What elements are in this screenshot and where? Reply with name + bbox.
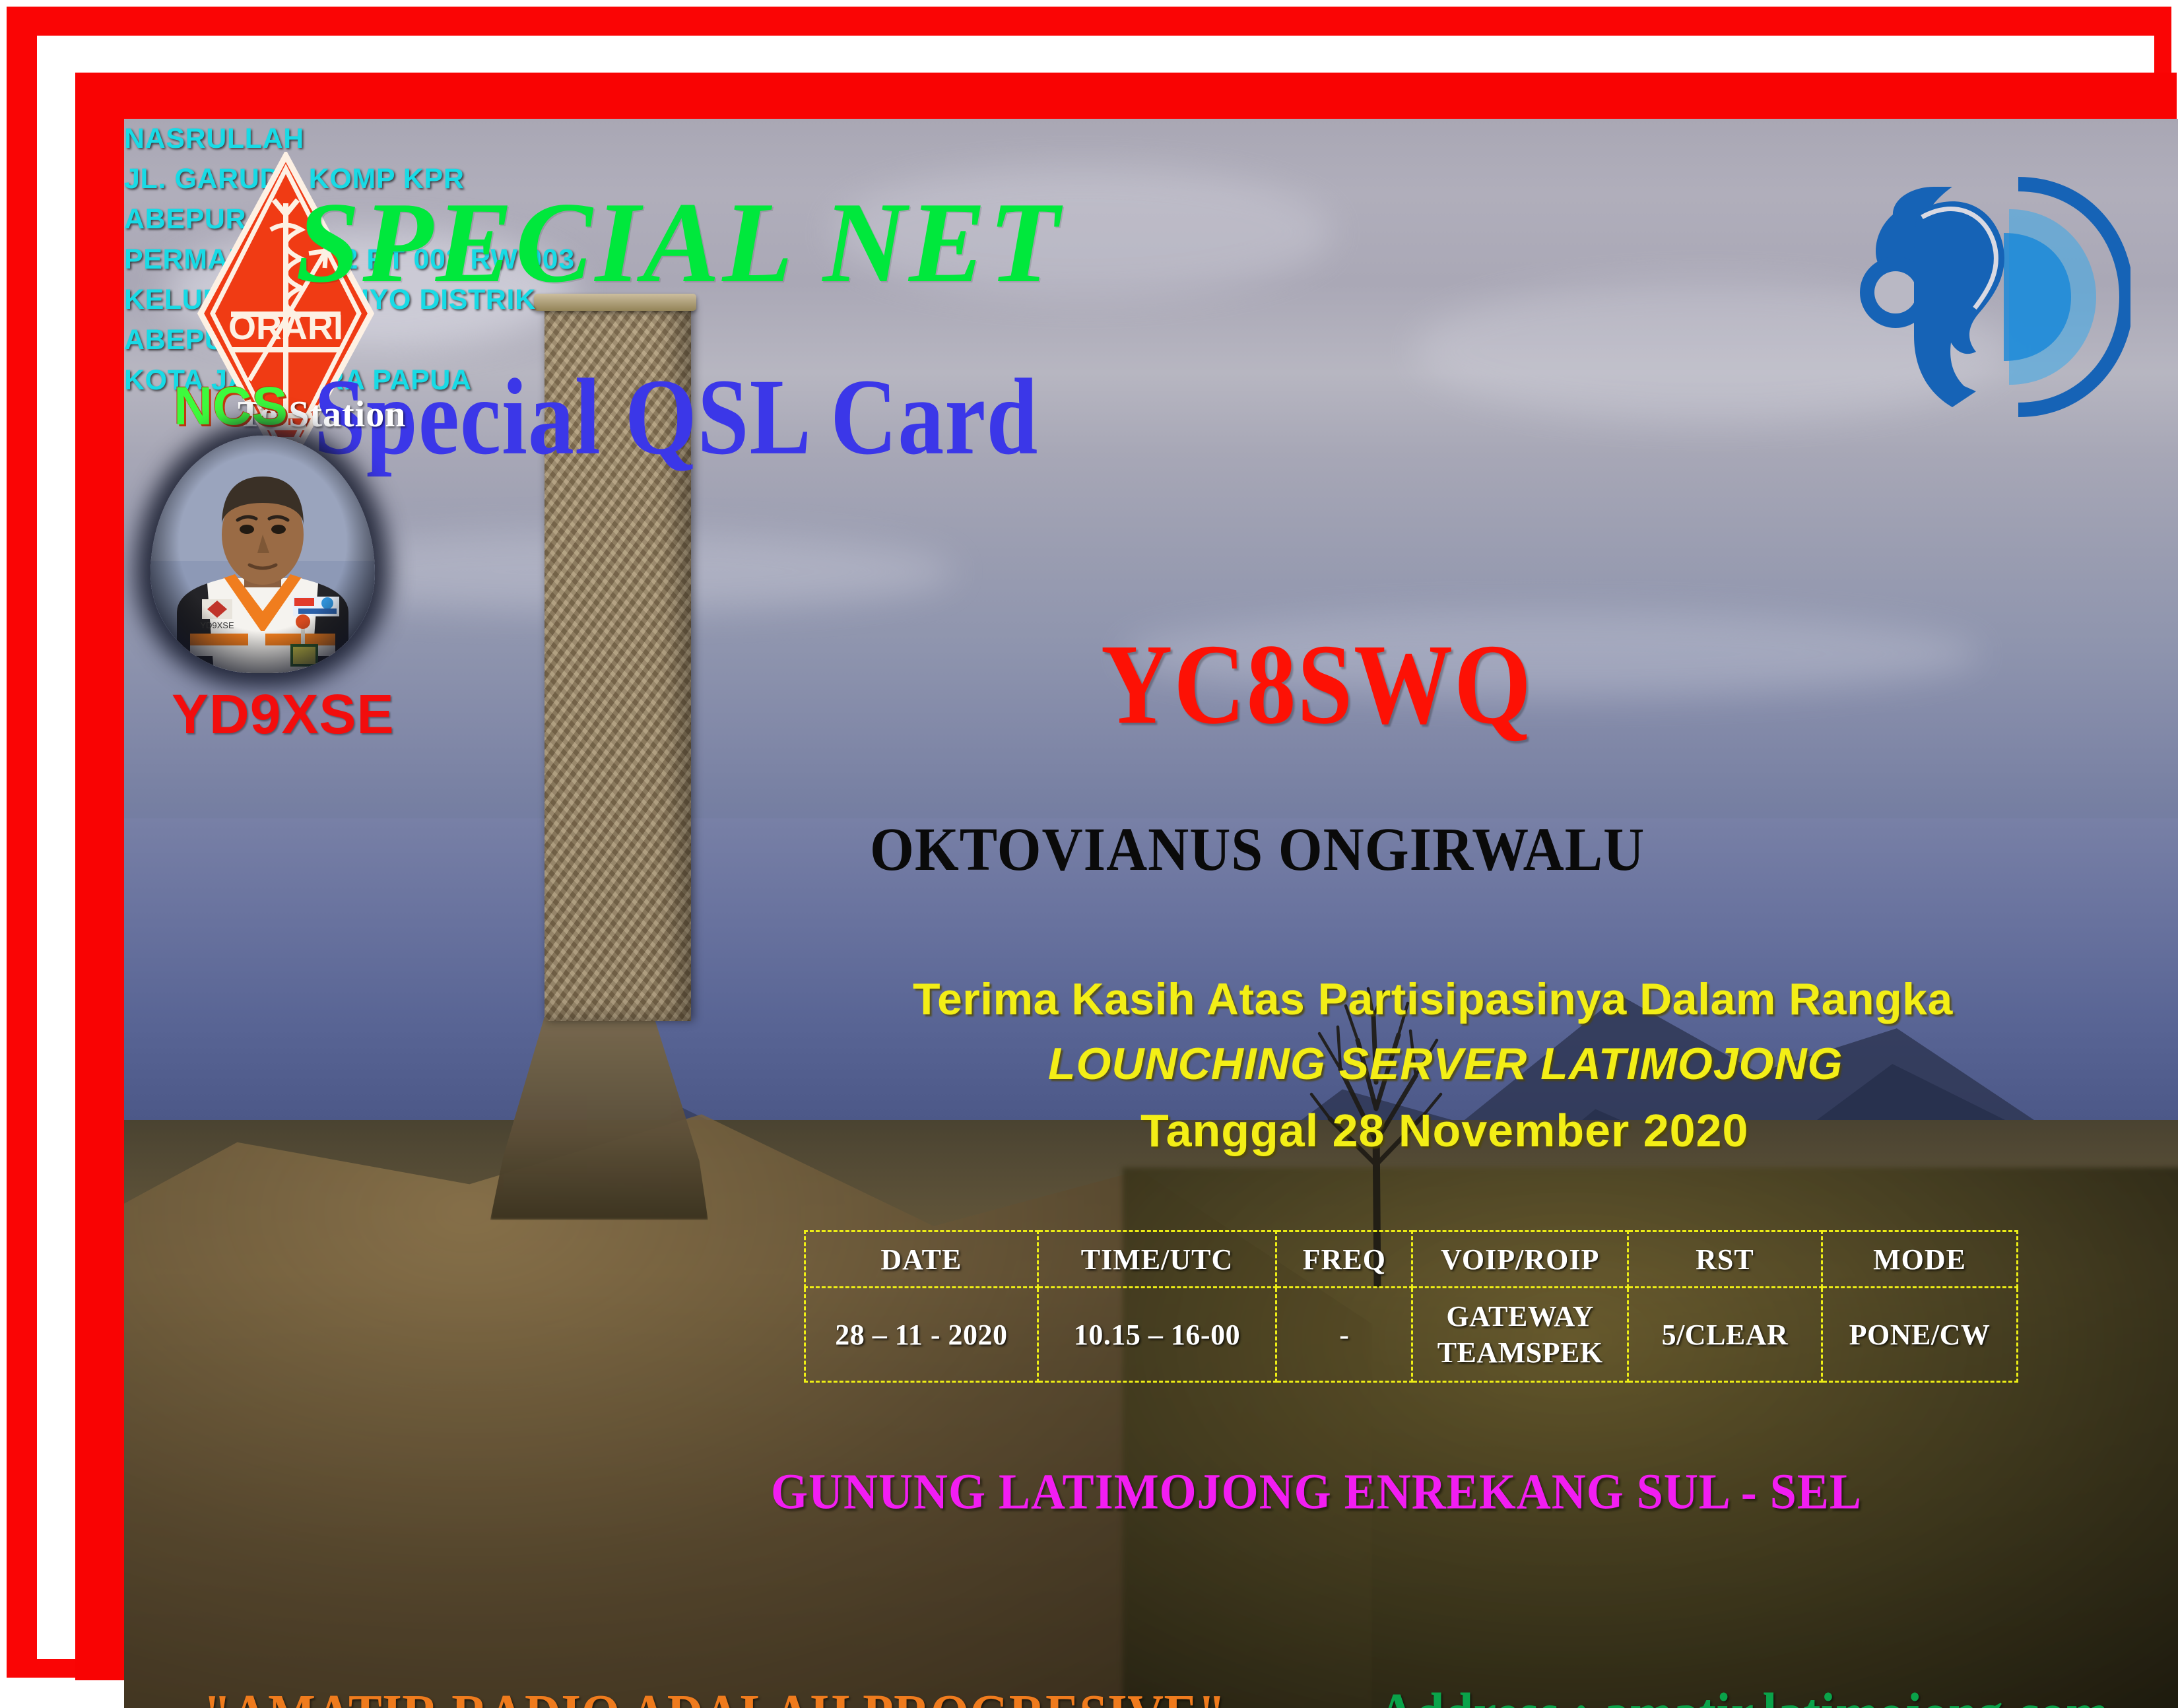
header-rst: RST — [1628, 1232, 1822, 1288]
header-freq: FREQ — [1276, 1232, 1412, 1288]
location-label: GUNUNG LATIMOJONG ENREKANG SUL - SEL — [771, 1466, 1862, 1517]
operator-callsign: YD9XSE — [172, 686, 395, 742]
cell-voip-line1: GATEWAY — [1413, 1298, 1627, 1334]
address-line: NASRULLAH — [124, 119, 2178, 159]
card-white-gap: ORARI SPECIAL — [37, 36, 2154, 1659]
cell-mode: PONE/CW — [1822, 1288, 2018, 1382]
station-callsign: YC8SWQ — [1101, 627, 1533, 742]
cell-rst: 5/CLEAR — [1628, 1288, 1822, 1382]
table-row: 28 – 11 - 2020 10.15 – 16-00 - GATEWAY T… — [805, 1288, 2018, 1382]
radio-operator-logo — [1853, 175, 2130, 419]
footer-website-address: Address : amatir.latimojong.com — [1378, 1684, 2109, 1708]
cell-voip: GATEWAY TEAMSPEK — [1412, 1288, 1628, 1382]
header-time: TIME/UTC — [1038, 1232, 1276, 1288]
cell-date: 28 – 11 - 2020 — [805, 1288, 1038, 1382]
cell-freq: - — [1276, 1288, 1412, 1382]
card-inner-border: ORARI SPECIAL — [75, 73, 2177, 1680]
card-background-photo: ORARI SPECIAL — [124, 119, 2178, 1708]
header-date: DATE — [805, 1232, 1038, 1288]
thanks-message-line1: Terima Kasih Atas Partisipasinya Dalam R… — [913, 977, 1953, 1022]
page-subtitle: Special QSL Card — [314, 363, 1038, 472]
footer-motto: "AMATIR RADIO ADALAH PROGRESIVE" — [203, 1686, 1226, 1708]
ncs-label: NCS — [174, 379, 288, 434]
thanks-message-line3: Tanggal 28 November 2020 — [1140, 1107, 1748, 1154]
header-mode: MODE — [1822, 1232, 2018, 1288]
table-header-row: DATE TIME/UTC FREQ VOIP/ROIP RST MODE — [805, 1232, 2018, 1288]
header-voip: VOIP/ROIP — [1412, 1232, 1628, 1288]
qso-log-table: DATE TIME/UTC FREQ VOIP/ROIP RST MODE 28… — [804, 1230, 2018, 1383]
cell-voip-line2: TEAMSPEK — [1413, 1334, 1627, 1371]
qsl-card: ORARI SPECIAL — [0, 0, 2178, 1683]
card-outer-border: ORARI SPECIAL — [7, 7, 2171, 1678]
page-title: SPECIAL NET — [296, 185, 1062, 300]
orari-logo-text: ORARI — [228, 308, 343, 347]
station-operator-name: OKTOVIANUS ONGIRWALU — [870, 818, 1645, 880]
cell-time: 10.15 – 16-00 — [1038, 1288, 1276, 1382]
thanks-message-line2: LOUNCHING SERVER LATIMOJONG — [1048, 1041, 1843, 1086]
